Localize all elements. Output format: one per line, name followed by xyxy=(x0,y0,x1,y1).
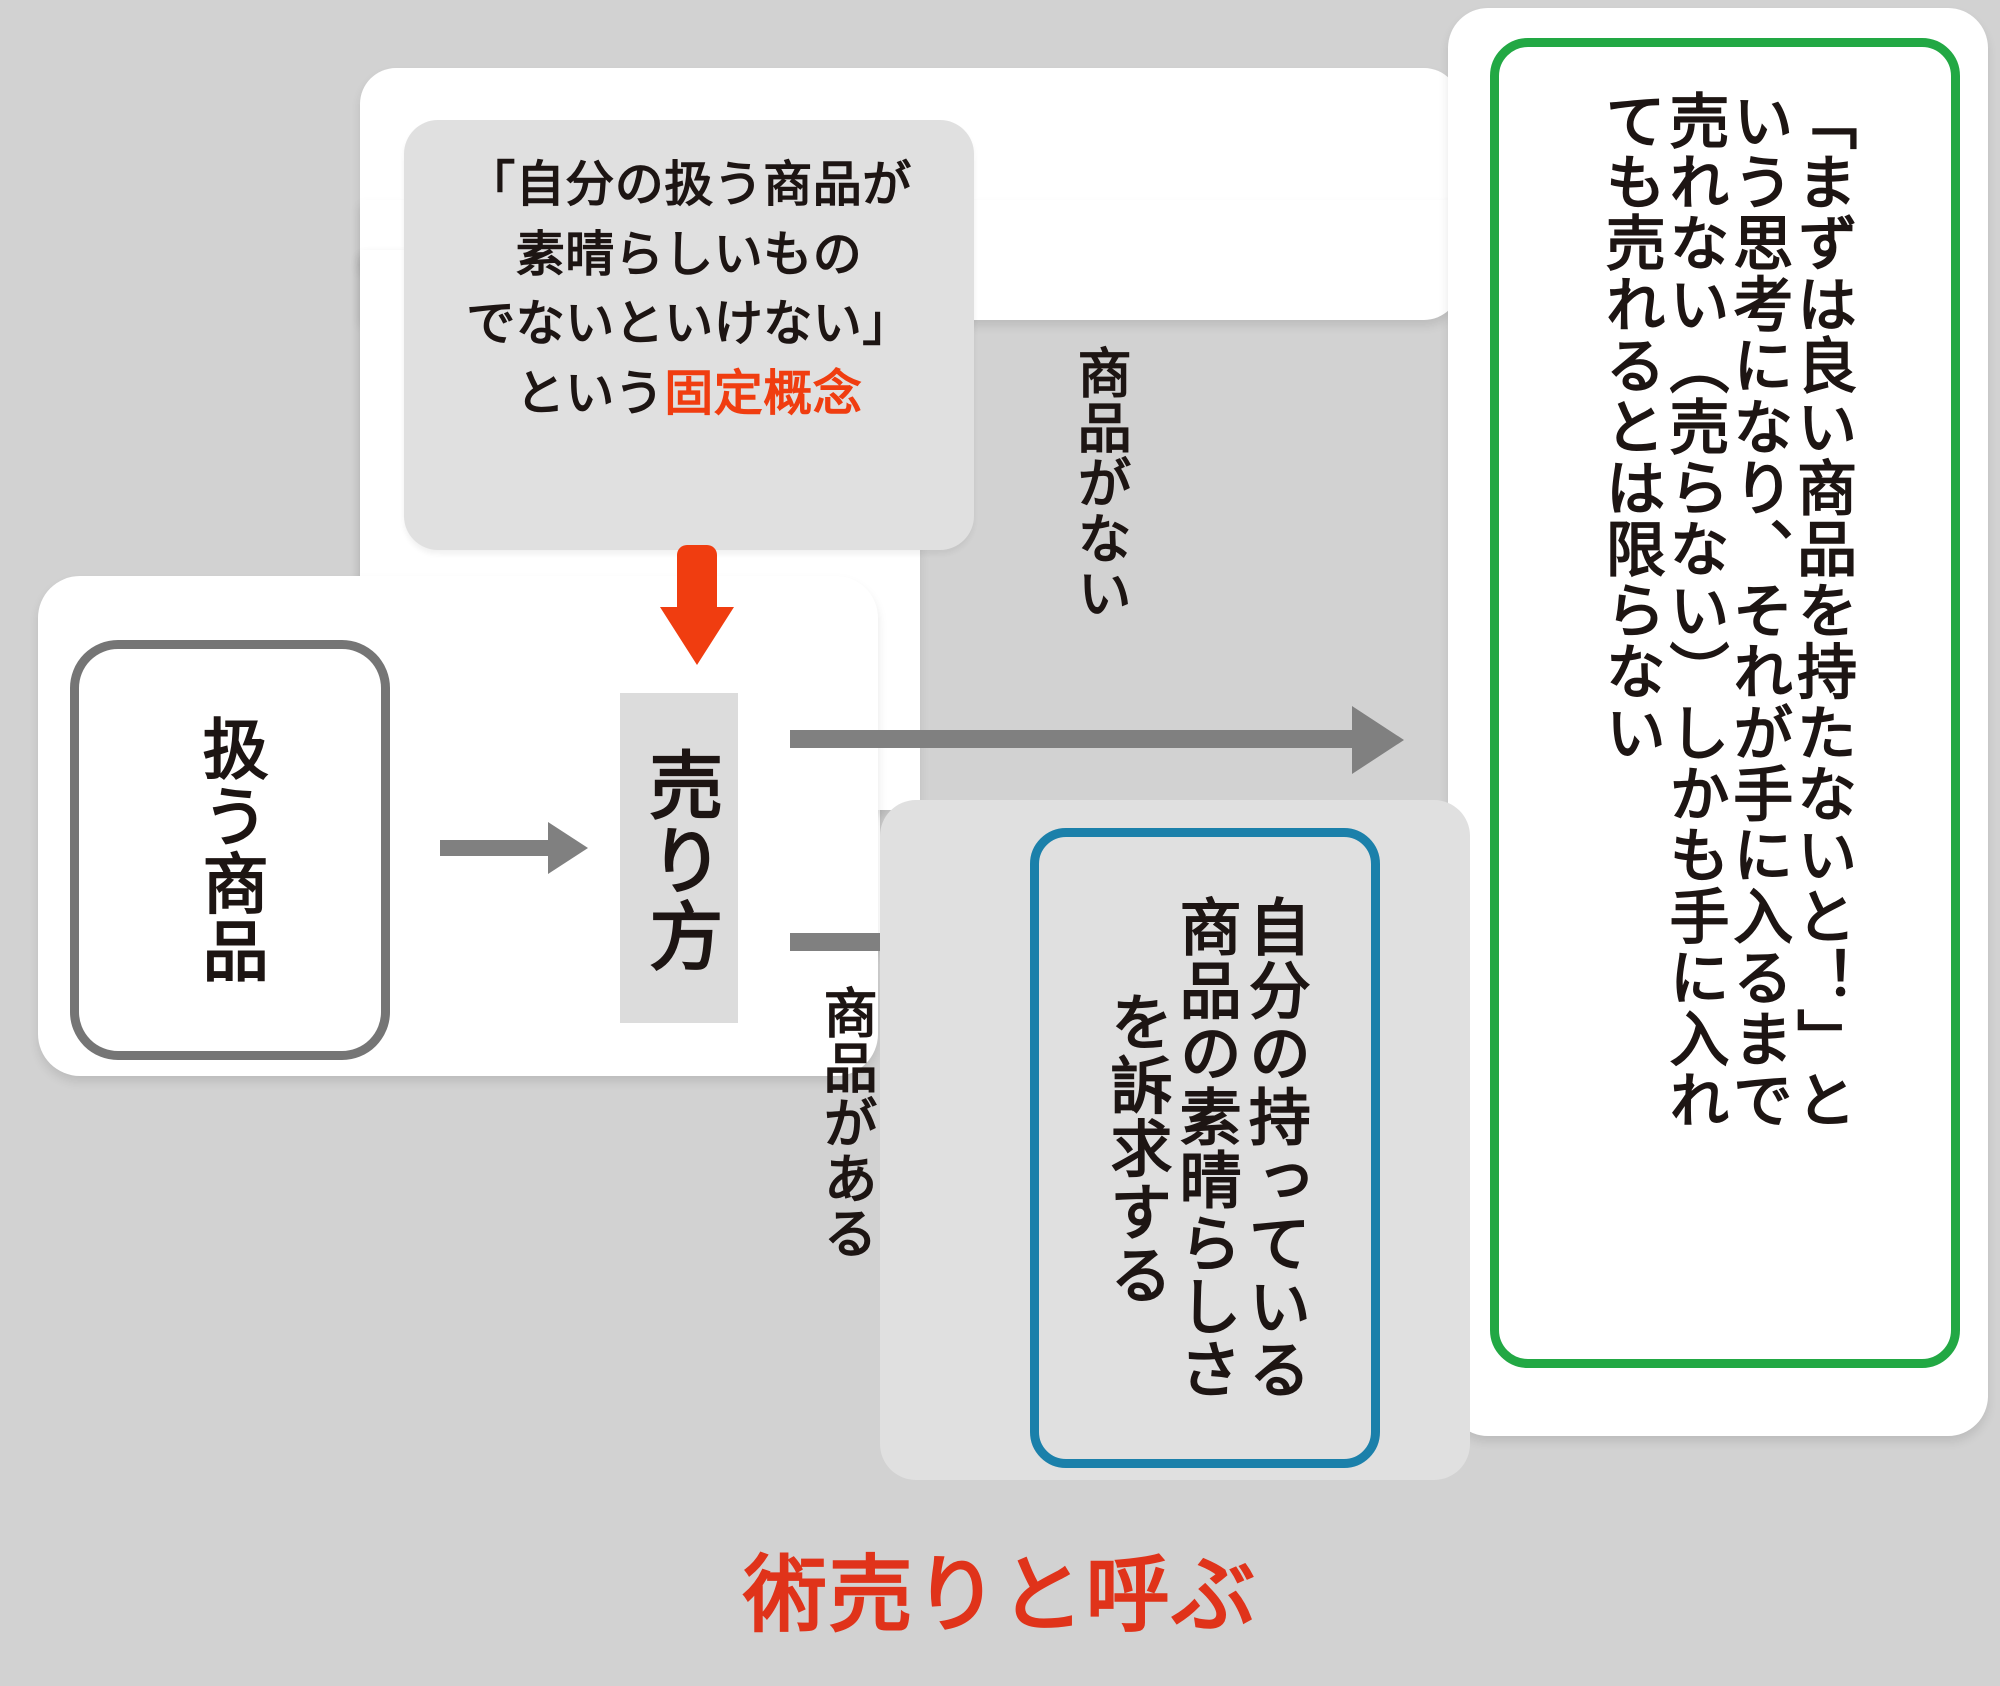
branch-label-no-product: 商品がない xyxy=(1072,345,1127,620)
outcome-stuck-col-2: いう思考になり、それが手に入るまで xyxy=(1726,90,1788,1130)
quote-line-1: 「自分の扱う商品が xyxy=(404,150,974,220)
node-source-label: 扱う商品 xyxy=(196,715,263,984)
quote-line-4: という固定概念 xyxy=(404,359,974,429)
node-source-label-wrap: 扱う商品 xyxy=(70,640,390,1060)
node-method-label: 売り方 xyxy=(641,747,716,973)
quote-line-4-prefix: という xyxy=(516,365,664,422)
node-method-label-wrap: 売り方 xyxy=(620,700,738,1020)
fixed-concept-text: 「自分の扱う商品が 素晴らしいもの でないといけない」 という固定概念 xyxy=(404,150,974,428)
quote-line-3: でないといけない」 xyxy=(404,289,974,359)
outcome-stuck-col-1: 「まずは良い商品を持たないと！」と xyxy=(1790,90,1852,1130)
quote-line-2: 素晴らしいもの xyxy=(404,220,974,290)
arrow-right-icon-source-to-method-head xyxy=(548,822,588,874)
arrow-down-icon xyxy=(660,545,734,665)
outcome-appeal-col-2: 商品の素晴らしさ xyxy=(1173,895,1236,1401)
arrow-right-icon-no-product-line xyxy=(790,730,1360,748)
arrow-right-icon-source-to-method-line xyxy=(440,840,550,856)
outcome-appeal-col-1: 自分の持っている xyxy=(1243,895,1306,1401)
outcome-appeal-text: 自分の持っている 商品の素晴らしさ を訴求する xyxy=(1030,828,1380,1468)
fixed-concept-highlight: 固定概念 xyxy=(664,365,862,422)
outcome-stuck-text: 「まずは良い商品を持たないと！」と いう思考になり、それが手に入るまで 売れない… xyxy=(1490,38,1960,1368)
branch-label-has-product: 商品がある xyxy=(818,985,873,1260)
arrow-right-icon-no-product-head xyxy=(1352,706,1404,774)
diagram-canvas: 「自分の扱う商品が 素晴らしいもの でないといけない」 という固定概念 扱う商品… xyxy=(0,0,2000,1686)
outcome-appeal-col-3: を訴求する xyxy=(1104,990,1167,1306)
outcome-stuck-col-3: 売れない（売らない）しかも手に入れ xyxy=(1662,90,1724,1130)
diagram-caption: 術売りと呼ぶ xyxy=(0,1528,2000,1649)
outcome-stuck-col-4: ても売れるとは限らない xyxy=(1598,90,1660,763)
